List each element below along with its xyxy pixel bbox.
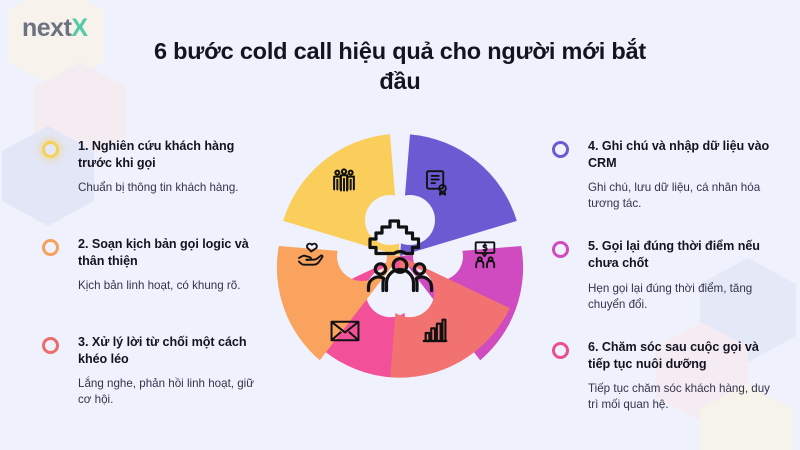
logo-text-next: next [22, 14, 71, 42]
brand-logo[interactable]: nextX [22, 16, 88, 41]
bar-chart-icon [418, 314, 452, 348]
step-item-3: 3. Xử lý lời từ chối một cách khéo léo L… [38, 334, 270, 408]
step-bullet-1 [42, 141, 59, 158]
page-title: 6 bước cold call hiệu quả cho người mới … [150, 36, 650, 96]
meeting-price-icon [468, 238, 502, 272]
hand-heart-icon [294, 238, 328, 272]
process-wheel-diagram [272, 128, 528, 384]
step-bullet-4 [552, 141, 569, 158]
step-bullet-5 [552, 241, 569, 258]
steps-column-right: 4. Ghi chú và nhập dữ liệu vào CRM Ghi c… [548, 138, 780, 439]
step-bullet-6 [552, 342, 569, 359]
step-title-3: 3. Xử lý lời từ chối một cách khéo léo [78, 334, 270, 367]
step-title-6: 6. Chăm sóc sau cuộc gọi và tiếp tục nuô… [588, 339, 780, 372]
gear-team-icon [358, 217, 442, 295]
step-title-2: 2. Soạn kịch bản gọi logic và thân thiện [78, 236, 270, 269]
step-desc-4: Ghi chú, lưu dữ liệu, cá nhân hóa tương … [588, 180, 780, 212]
step-desc-5: Hẹn gọi lại đúng thời điểm, tăng chuyển … [588, 281, 780, 313]
step-item-5: 5. Gọi lại đúng thời điểm nếu chưa chốt … [548, 238, 780, 312]
people-group-icon [327, 166, 361, 200]
step-item-6: 6. Chăm sóc sau cuộc gọi và tiếp tục nuô… [548, 339, 780, 413]
step-bullet-2 [42, 239, 59, 256]
step-desc-3: Lắng nghe, phản hồi linh hoạt, giữ cơ hộ… [78, 376, 270, 408]
steps-column-left: 1. Nghiên cứu khách hàng trước khi gọi C… [38, 138, 270, 434]
envelope-icon [328, 314, 362, 348]
infographic-canvas: nextX 6 bước cold call hiệu quả cho ngườ… [0, 0, 800, 450]
step-title-5: 5. Gọi lại đúng thời điểm nếu chưa chốt [588, 238, 780, 271]
step-bullet-3 [42, 337, 59, 354]
step-title-4: 4. Ghi chú và nhập dữ liệu vào CRM [588, 138, 780, 171]
step-item-1: 1. Nghiên cứu khách hàng trước khi gọi C… [38, 138, 270, 210]
step-title-1: 1. Nghiên cứu khách hàng trước khi gọi [78, 138, 270, 171]
step-item-4: 4. Ghi chú và nhập dữ liệu vào CRM Ghi c… [548, 138, 780, 212]
step-desc-1: Chuẩn bị thông tin khách hàng. [78, 180, 270, 196]
step-item-2: 2. Soạn kịch bản gọi logic và thân thiện… [38, 236, 270, 308]
logo-text-x: X [71, 14, 87, 42]
step-desc-2: Kịch bản linh hoạt, có khung rõ. [78, 278, 270, 294]
certificate-document-icon [420, 166, 454, 200]
step-desc-6: Tiếp tục chăm sóc khách hàng, duy trì mố… [588, 381, 780, 413]
